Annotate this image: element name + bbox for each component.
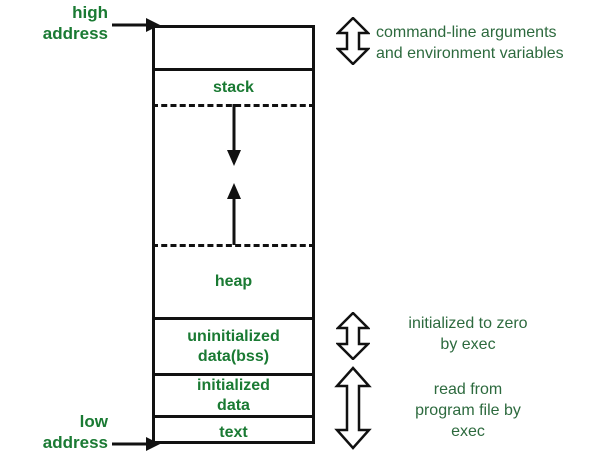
annotation-text-data: read from program file by exec [368, 379, 568, 442]
segment-args-env [155, 28, 312, 68]
segment-bss: uninitialized data(bss) [155, 320, 312, 373]
segment-bss-label: uninitialized data(bss) [187, 327, 279, 367]
memory-layout-diagram: high address low address stack [0, 0, 602, 459]
stack-grows-down-arrow-down-icon [223, 104, 245, 166]
segment-stack-label: stack [213, 78, 254, 98]
segment-data-label: initialized data [197, 376, 270, 416]
low-address-label: low address [0, 411, 108, 453]
segment-text: text [155, 418, 312, 447]
segment-stack: stack [155, 71, 312, 104]
segment-heap: heap [155, 247, 312, 317]
segment-text-label: text [219, 423, 247, 443]
text-data-double-arrow-vertical-icon [334, 366, 372, 450]
bss-double-arrow-vertical-icon [336, 312, 370, 360]
high-address-label: high address [0, 2, 108, 44]
segment-data: initialized data [155, 376, 312, 415]
memory-box: stack heap uninitialized data(bss) [152, 25, 315, 444]
args-env-double-arrow-vertical-icon [336, 17, 370, 65]
heap-grows-up-arrow-up-icon [223, 183, 245, 245]
annotation-bss: initialized to zero by exec [368, 313, 568, 355]
annotation-args-env: command-line arguments and environment v… [376, 22, 598, 64]
segment-heap-label: heap [215, 272, 252, 292]
